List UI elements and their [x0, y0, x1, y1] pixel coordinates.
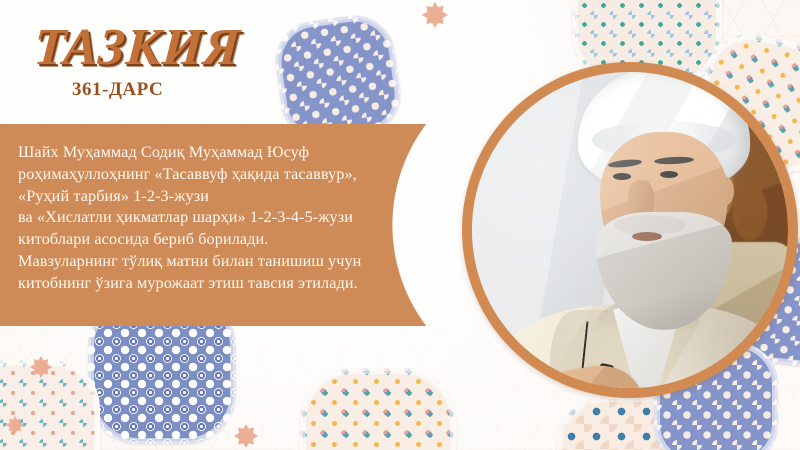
description-line-2: роҳимаҳуллоҳнинг «Тасаввуф ҳақида тасавв… — [18, 164, 448, 186]
quatrefoil-bottom-warm-fill — [300, 368, 456, 450]
mouth — [632, 232, 662, 241]
quatrefoil-bottom-pink — [0, 360, 100, 450]
lesson-number: 361-ДАРС — [72, 79, 163, 101]
quatrefoil-bottom-warm — [300, 368, 456, 450]
description-line-3: «Руҳий тарбия» 1-2-3-жузи — [18, 186, 448, 208]
page-title: ТАЗКИЯ — [32, 22, 242, 74]
description-text: Шайх Муҳаммад Содиқ Муҳаммад Юсуфроҳимаҳ… — [18, 142, 448, 294]
description-line-5: китоблари асосида бериб борилади. — [18, 229, 448, 251]
slide-canvas: ТАЗКИЯ 361-ДАРС Шайх Муҳаммад Содиқ Муҳа… — [0, 0, 800, 450]
description-line-7: китобнинг ўзига мурожаат этиш тавсия эти… — [18, 273, 448, 295]
eye-left — [613, 173, 631, 180]
description-line-1: Шайх Муҳаммад Содиқ Муҳаммад Юсуф — [18, 142, 448, 164]
eye-right — [660, 171, 678, 178]
description-line-4: ва «Хислатли ҳикматлар шарҳи» 1-2-3-4-5-… — [18, 207, 448, 229]
portrait-photo — [472, 72, 788, 388]
portrait-medallion — [462, 62, 798, 398]
description-line-6: Мавзуларнинг тўлиқ матни билан танишиш у… — [18, 251, 448, 273]
header: ТАЗКИЯ 361-ДАРС — [0, 0, 460, 124]
quatrefoil-bottom-pink-fill — [0, 360, 100, 450]
